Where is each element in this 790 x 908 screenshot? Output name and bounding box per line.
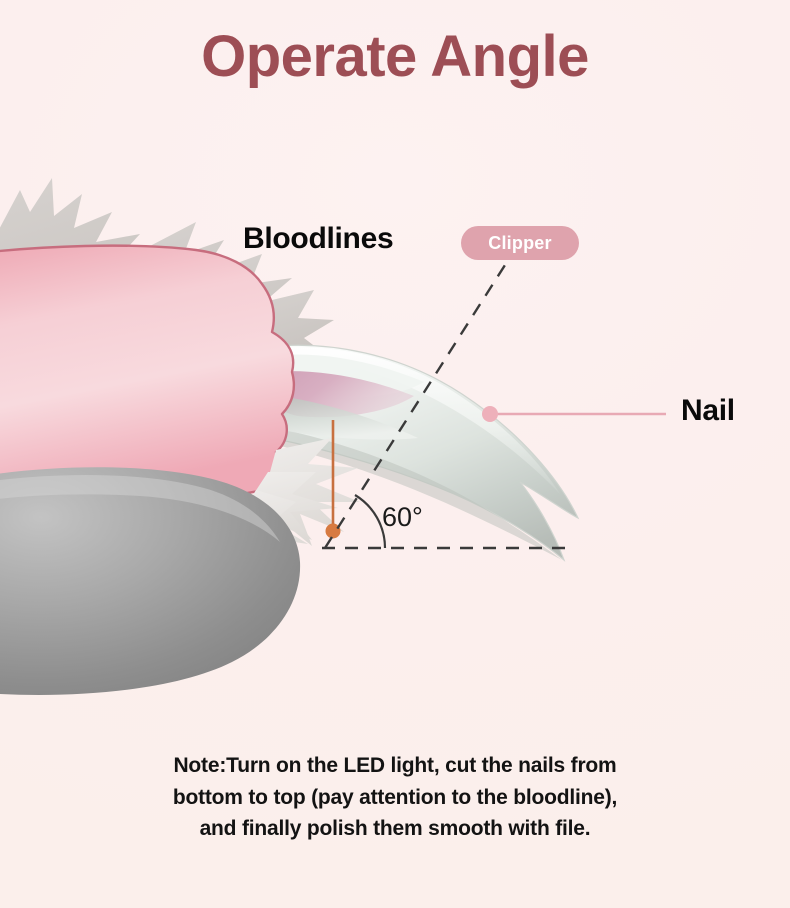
- operate-angle-infographic: Operate Angle: [0, 0, 790, 908]
- paw-claw-illustration: [0, 150, 790, 750]
- page-title: Operate Angle: [0, 24, 790, 91]
- bloodlines-label: Bloodlines: [243, 222, 393, 256]
- note-line-2: bottom to top (pay attention to the bloo…: [0, 782, 790, 814]
- note-line-3: and finally polish them smooth with file…: [0, 813, 790, 845]
- nail-leader: [482, 406, 666, 422]
- angle-value-label: 60°: [382, 502, 423, 533]
- angle-arc: [355, 495, 385, 548]
- clipper-label-pill: Clipper: [461, 226, 579, 260]
- toe-pad: [0, 246, 294, 500]
- paw-pad: [0, 467, 300, 695]
- instruction-note: Note:Turn on the LED light, cut the nail…: [0, 750, 790, 845]
- note-line-1: Note:Turn on the LED light, cut the nail…: [0, 750, 790, 782]
- nail-label: Nail: [681, 394, 735, 428]
